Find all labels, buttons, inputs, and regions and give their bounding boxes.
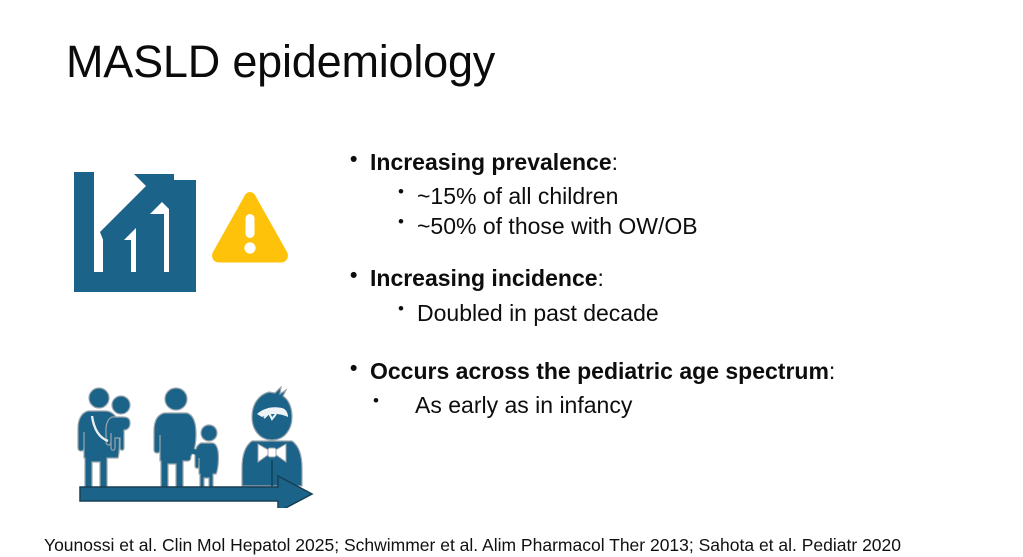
adolescent-icon (242, 387, 302, 486)
bullet-level1-age-spectrum: Occurs across the pediatric age spectrum… (348, 357, 1008, 386)
bullet-level2-incidence-doubled: Doubled in past decade (348, 299, 1008, 329)
bullet-group-prevalence: Increasing prevalence: ~15% of all child… (348, 148, 1008, 242)
bullet-level1-prevalence: Increasing prevalence: (348, 148, 1008, 177)
bullet-level1-age-spectrum-label: Occurs across the pediatric age spectrum (370, 358, 829, 384)
bullet-level1-prevalence-label: Increasing prevalence (370, 149, 612, 175)
bullet-level1-incidence-label: Increasing incidence (370, 265, 598, 291)
adult-with-child-icon (154, 388, 218, 490)
bullet-level1-incidence-colon: : (598, 265, 604, 291)
spacer-1 (348, 242, 1008, 264)
bullet-list: Increasing prevalence: ~15% of all child… (348, 148, 1008, 421)
bullet-level2-prevalence-children: ~15% of all children (348, 182, 1008, 212)
bullet-level2-prevalence-owob: ~50% of those with OW/OB (348, 212, 1008, 242)
citation-text: Younossi et al. Clin Mol Hepatol 2025; S… (44, 535, 901, 556)
mother-with-baby-icon (78, 388, 130, 489)
pediatric-age-spectrum-illustration (72, 386, 320, 508)
warning-triangle-icon (209, 190, 291, 266)
bullet-level2-age-spectrum-infancy: As early as in infancy (348, 391, 1008, 421)
bullet-level1-incidence: Increasing incidence: (348, 264, 1008, 293)
page-title: MASLD epidemiology (66, 36, 495, 88)
bar-chart-up-icon (74, 172, 196, 294)
bullet-group-age-spectrum: Occurs across the pediatric age spectrum… (348, 357, 1008, 421)
bullet-level1-prevalence-colon: : (612, 149, 618, 175)
bullet-level1-age-spectrum-colon: : (829, 358, 835, 384)
spacer-2 (348, 329, 1008, 357)
slide-canvas: MASLD epidemiology (0, 0, 1023, 557)
bullet-group-incidence: Increasing incidence: Doubled in past de… (348, 264, 1008, 328)
